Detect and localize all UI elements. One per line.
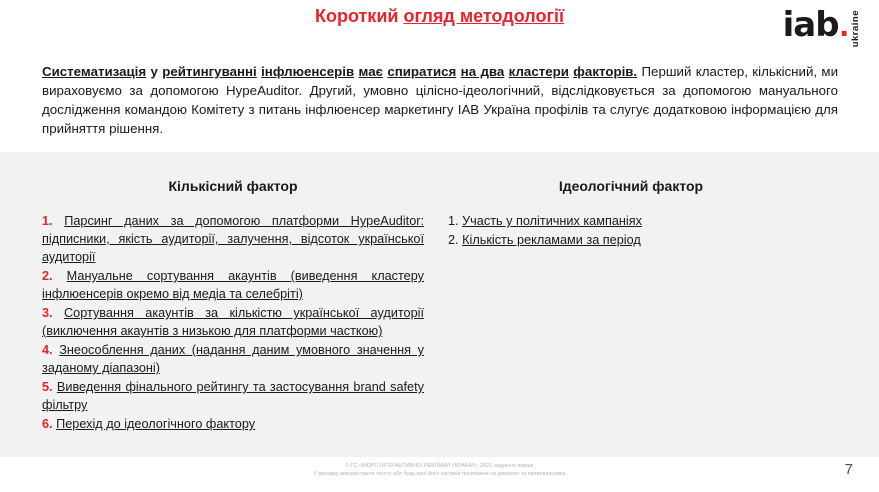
page-title-part1: Короткий (315, 6, 403, 26)
list-item-number: 3. (42, 306, 53, 320)
intro-plain-1: у (146, 64, 162, 79)
list-item: 5. Виведення фінального рейтингу та заст… (42, 378, 424, 414)
intro-bold-4: має (359, 64, 383, 79)
intro-bold-5: спиратися (387, 64, 456, 79)
footer-copyright: © ГС «БЮРО ІНТЕРАКТИВНОЇ РЕКЛАМИ УКРАЇНИ… (0, 462, 879, 478)
list-item-number: 1. (448, 214, 459, 228)
list-item: 1. Парсинг даних за допомогою платформи … (42, 212, 424, 266)
list-item-number: 5. (42, 380, 53, 394)
intro-bold-7: кластери (509, 64, 569, 79)
list-item-text: Мануальне сортування акаунтів (виведення… (42, 269, 424, 301)
page-title-part2: огляд методології (403, 6, 564, 26)
list-item: 3. Сортування акаунтів за кількістю укра… (42, 304, 424, 340)
list-item-text: Виведення фінального рейтингу та застосу… (42, 380, 424, 412)
footer-line-2: У випадку використання тексту або будь-я… (0, 470, 879, 478)
quantitative-factor-list: 1. Парсинг даних за допомогою платформи … (42, 212, 424, 433)
intro-paragraph: Систематизація у рейтингуванні інфлюенсе… (42, 62, 838, 138)
intro-bold-2: рейтингуванні (162, 64, 257, 79)
list-item: 2. Кількість рекламами за період (448, 231, 830, 249)
list-item: 1. Участь у політичних кампаніях (448, 212, 830, 230)
list-item-text: Сортування акаунтів за кількістю українс… (42, 306, 424, 338)
list-item-number: 6. (42, 417, 53, 431)
list-item: 6. Перехід до ідеологічного фактору (42, 415, 424, 433)
intro-bold-1: Систематизація (42, 64, 146, 79)
list-item-text: Кількість рекламами за період (462, 233, 641, 247)
column-heading-quantitative: Кількісний фактор (42, 178, 424, 194)
list-item: 2. Мануальне сортування акаунтів (виведе… (42, 267, 424, 303)
list-item: 4. Знеособлення даних (надання даним умо… (42, 341, 424, 377)
intro-bold-6: на два (461, 64, 505, 79)
list-item-text: Парсинг даних за допомогою платформи Hyp… (42, 214, 424, 264)
ideological-factor-list: 1. Участь у політичних кампаніях 2. Кіль… (448, 212, 830, 249)
intro-bold-8: факторів. (573, 64, 637, 79)
page-number: 7 (845, 461, 853, 478)
list-item-text: Участь у політичних кампаніях (462, 214, 642, 228)
list-item-number: 2. (42, 269, 53, 283)
column-heading-ideological: Ідеологічний фактор (440, 178, 822, 194)
list-item-text: Перехід до ідеологічного фактору (56, 417, 255, 431)
intro-bold-3: інфлюенсерів (261, 64, 354, 79)
list-item-number: 4. (42, 343, 53, 357)
list-item-number: 2. (448, 233, 459, 247)
page-title: Короткий огляд методології (0, 6, 879, 27)
list-item-number: 1. (42, 214, 53, 228)
list-item-text: Знеособлення даних (надання даним умовно… (42, 343, 424, 375)
footer-line-1: © ГС «БЮРО ІНТЕРАКТИВНОЇ РЕКЛАМИ УКРАЇНИ… (0, 462, 879, 470)
